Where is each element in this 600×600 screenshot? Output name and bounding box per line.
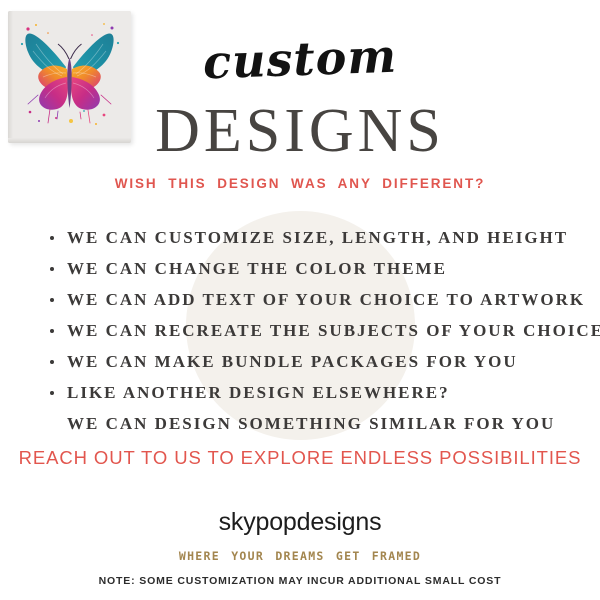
- list-item: WE CAN ADD TEXT OF YOUR CHOICE TO ARTWOR…: [45, 284, 585, 315]
- feature-list: WE CAN CUSTOMIZE SIZE, LENGTH, AND HEIGH…: [45, 222, 585, 439]
- brand-name: skypopdesigns: [0, 508, 600, 537]
- call-to-action: REACH OUT TO US TO EXPLORE ENDLESS POSSI…: [0, 447, 600, 469]
- list-item: WE CAN MAKE BUNDLE PACKAGES FOR YOU: [45, 346, 585, 377]
- subheading: WISH THIS DESIGN WAS ANY DIFFERENT?: [0, 176, 600, 191]
- list-item: WE CAN RECREATE THE SUBJECTS OF YOUR CHO…: [45, 315, 585, 346]
- page-title: DESIGNS: [0, 96, 600, 167]
- list-item: WE CAN CUSTOMIZE SIZE, LENGTH, AND HEIGH…: [45, 222, 585, 253]
- footer-note: NOTE: SOME CUSTOMIZATION MAY INCUR ADDIT…: [0, 575, 600, 587]
- list-item: WE CAN CHANGE THE COLOR THEME: [45, 253, 585, 284]
- promo-poster: custom DESIGNS WISH THIS DESIGN WAS ANY …: [0, 0, 600, 600]
- list-item: LIKE ANOTHER DESIGN ELSEWHERE?: [45, 377, 585, 408]
- list-item-continuation: WE CAN DESIGN SOMETHING SIMILAR FOR YOU: [45, 408, 585, 439]
- brand-tagline: WHERE YOUR DREAMS GET FRAMED: [0, 549, 600, 563]
